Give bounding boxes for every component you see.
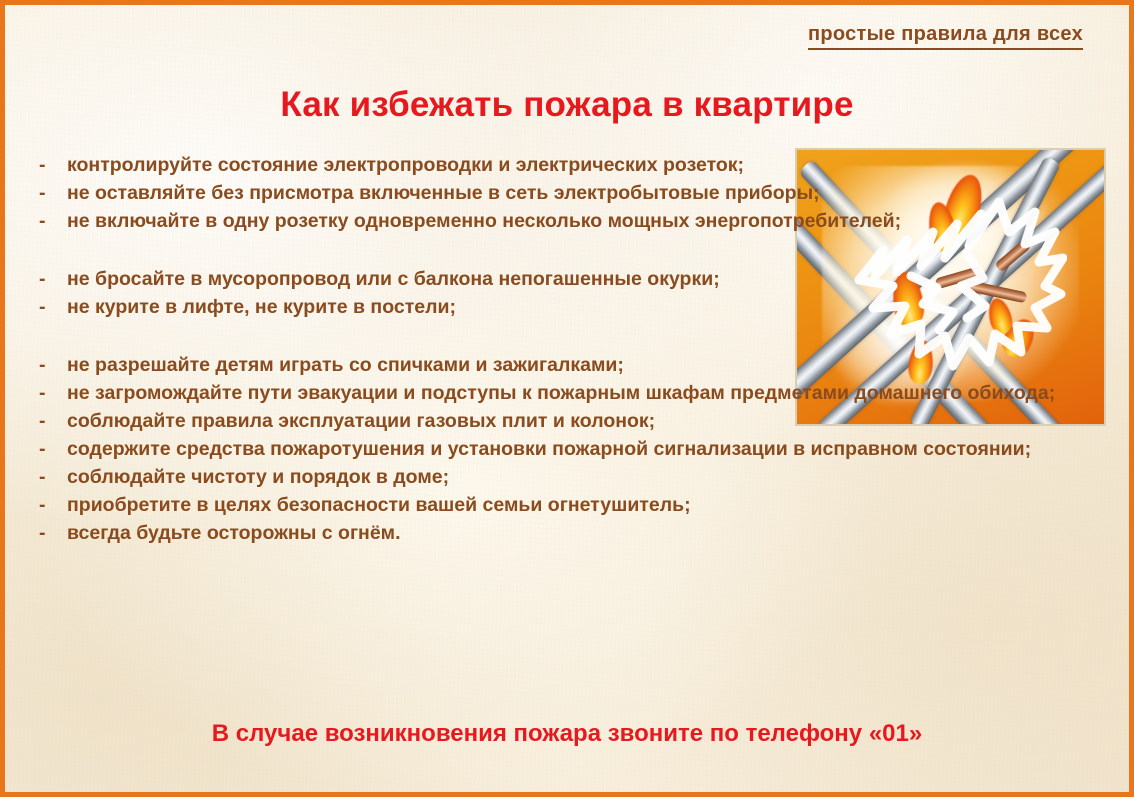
bullet-dash-icon: - [39, 207, 67, 235]
rule-item: -не бросайте в мусоропровод или с балкон… [39, 265, 1095, 293]
bullet-dash-icon: - [39, 293, 67, 321]
emergency-footer: В случае возникновения пожара звоните по… [5, 720, 1129, 748]
group-separator [39, 235, 1095, 265]
page-title: Как избежать пожара в квартире [5, 85, 1129, 125]
rule-item-text: содержите средства пожаротушения и устан… [67, 435, 1095, 463]
rule-item: -не включайте в одну розетку одновременн… [39, 207, 1095, 235]
rules-list: -контролируйте состояние электропроводки… [39, 151, 1095, 547]
rule-item-text: не включайте в одну розетку одновременно… [67, 207, 1095, 235]
rule-item-text: приобретите в целях безопасности вашей с… [67, 491, 1095, 519]
bullet-dash-icon: - [39, 491, 67, 519]
bullet-dash-icon: - [39, 265, 67, 293]
bullet-dash-icon: - [39, 151, 67, 179]
bullet-dash-icon: - [39, 379, 67, 407]
rule-item-text: не оставляйте без присмотра включенные в… [67, 179, 1095, 207]
bullet-dash-icon: - [39, 519, 67, 547]
bullet-dash-icon: - [39, 407, 67, 435]
rule-item: -не разрешайте детям играть со спичками … [39, 351, 1095, 379]
bullet-dash-icon: - [39, 179, 67, 207]
rule-item-text: не бросайте в мусоропровод или с балкона… [67, 265, 1095, 293]
group-separator [39, 321, 1095, 351]
rule-item-text: не курите в лифте, не курите в постели; [67, 293, 1095, 321]
rule-item: -всегда будьте осторожны с огнём. [39, 519, 1095, 547]
rule-item: -не курите в лифте, не курите в постели; [39, 293, 1095, 321]
bullet-dash-icon: - [39, 435, 67, 463]
rule-item-text: не разрешайте детям играть со спичками и… [67, 351, 1095, 379]
rule-item-text: контролируйте состояние электропроводки … [67, 151, 1095, 179]
rule-item: -приобретите в целях безопасности вашей … [39, 491, 1095, 519]
rule-item-text: всегда будьте осторожны с огнём. [67, 519, 1095, 547]
tagline-header: простые правила для всех [808, 23, 1083, 50]
rule-item: -соблюдайте правила эксплуатации газовых… [39, 407, 1095, 435]
rule-item: -содержите средства пожаротушения и уста… [39, 435, 1095, 463]
bullet-dash-icon: - [39, 463, 67, 491]
poster-container: простые правила для всех Как избежать по… [0, 0, 1134, 797]
bullet-dash-icon: - [39, 351, 67, 379]
rule-item-text: соблюдайте чистоту и порядок в доме; [67, 463, 1095, 491]
rule-item-text: соблюдайте правила эксплуатации газовых … [67, 407, 1095, 435]
rule-item: -не оставляйте без присмотра включенные … [39, 179, 1095, 207]
rule-item: -не загромождайте пути эвакуации и подст… [39, 379, 1095, 407]
rule-item-text: не загромождайте пути эвакуации и подсту… [67, 379, 1095, 407]
rule-item: -соблюдайте чистоту и порядок в доме; [39, 463, 1095, 491]
rule-item: -контролируйте состояние электропроводки… [39, 151, 1095, 179]
